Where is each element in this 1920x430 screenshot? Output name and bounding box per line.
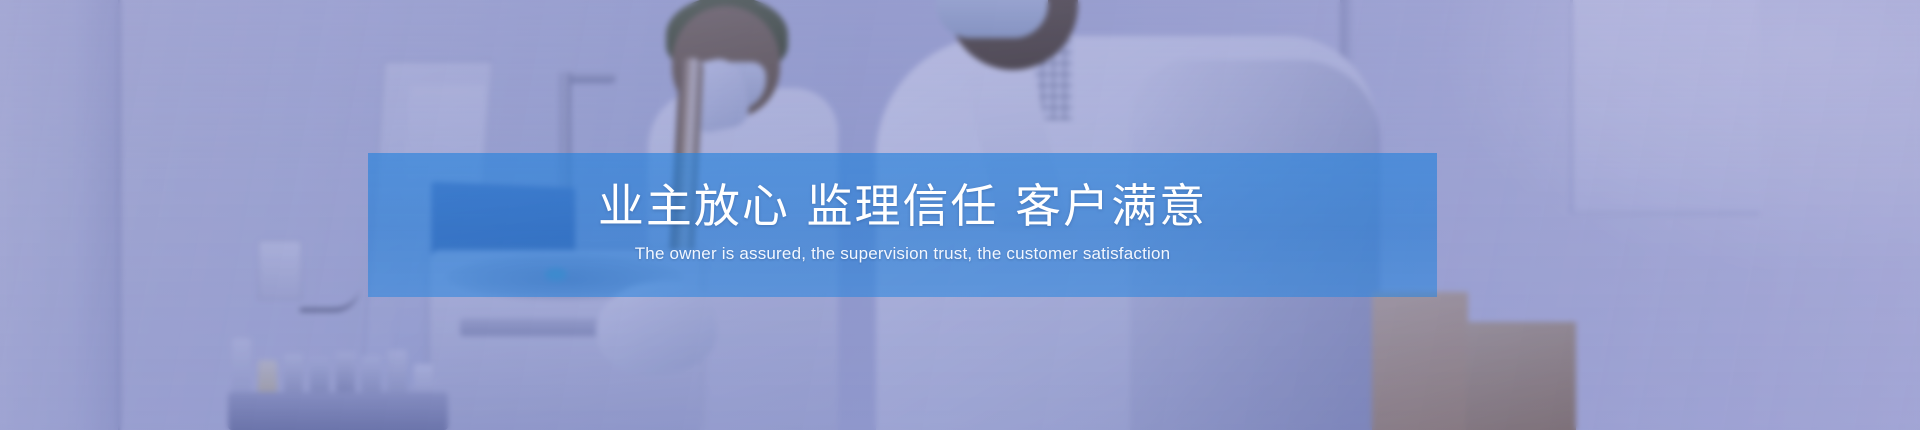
message-band: 业主放心 监理信任 客户满意 The owner is assured, the…	[368, 153, 1437, 297]
message-band-content: 业主放心 监理信任 客户满意 The owner is assured, the…	[368, 182, 1437, 268]
banner-headline: 业主放心 监理信任 客户满意	[368, 182, 1437, 232]
hero-banner: 业主放心 监理信任 客户满意 The owner is assured, the…	[0, 0, 1920, 430]
banner-subtitle: The owner is assured, the supervision tr…	[368, 244, 1437, 264]
